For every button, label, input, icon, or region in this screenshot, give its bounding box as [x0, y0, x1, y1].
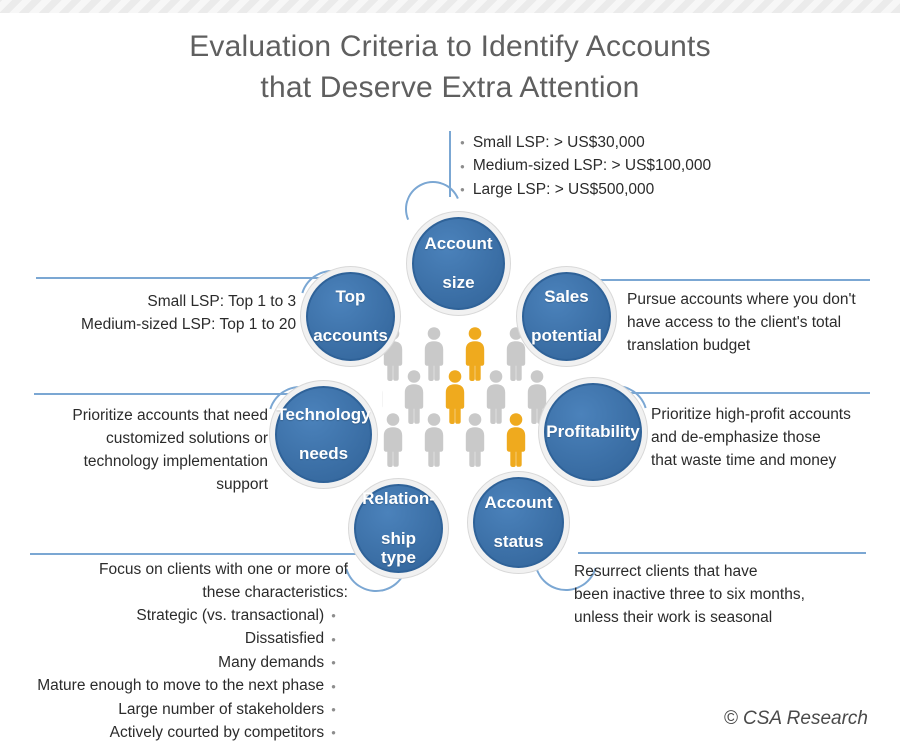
connector-technology-needs — [34, 393, 304, 395]
callout-account-size: Small LSP: > US$30,000 Medium-sized LSP:… — [460, 131, 711, 201]
node-label-line1: Account — [479, 493, 559, 513]
callout-line: technology implementation — [28, 450, 268, 473]
page-title: Evaluation Criteria to Identify Accounts… — [0, 26, 900, 108]
callout-line: been inactive three to six months, — [574, 583, 854, 606]
callout-line: that waste time and money — [651, 449, 900, 472]
infographic-slide: Evaluation Criteria to Identify Accounts… — [0, 0, 900, 744]
node-label-line1: Relation- — [356, 489, 441, 509]
callout-relationship-type-list: Strategic (vs. transactional) Dissatisfi… — [0, 604, 336, 744]
callout-line: Pursue accounts where you don't — [627, 288, 887, 311]
decorative-stripe-band — [0, 0, 900, 13]
list-item: Mature enough to move to the next phase — [0, 674, 336, 697]
list-item: Small LSP: Top 1 to 3 — [40, 290, 308, 313]
node-top-accounts-label: Top accounts — [301, 287, 400, 346]
node-label-line1: Sales — [525, 287, 608, 307]
person-gray — [425, 327, 443, 381]
title-line-2: that Deserve Extra Attention — [0, 67, 900, 108]
node-relationship-type[interactable]: Relation- ship type — [349, 479, 448, 578]
node-sales-potential[interactable]: Sales potential — [517, 267, 616, 366]
callout-line: and de-emphasize those — [651, 426, 900, 449]
person-gray — [425, 413, 443, 467]
list-item: Actively courted by competitors — [0, 721, 336, 744]
callout-profitability: Prioritize high-profit accounts and de-e… — [651, 403, 900, 472]
node-sales-potential-label: Sales potential — [519, 287, 614, 346]
node-label-line2: needs — [270, 444, 376, 464]
person-gray — [405, 370, 423, 424]
list-item: Many demands — [0, 651, 336, 674]
list-item: Dissatisfied — [0, 627, 336, 650]
node-label-line2: size — [419, 273, 499, 293]
list-item: Large number of stakeholders — [0, 698, 336, 721]
node-account-status[interactable]: Account status — [468, 472, 569, 573]
callout-line: customized solutions or — [28, 427, 268, 450]
node-technology-needs[interactable]: Technology needs — [270, 381, 377, 488]
person-gray — [384, 413, 402, 467]
list-item: Medium-sized LSP: Top 1 to 20 — [40, 313, 308, 336]
node-profitability[interactable]: Profitability — [539, 378, 647, 486]
callout-top-accounts: Small LSP: Top 1 to 3 Medium-sized LSP: … — [40, 290, 308, 337]
node-label-line2: accounts — [307, 326, 394, 346]
connector-sales-potential — [594, 279, 870, 281]
node-profitability-label: Profitability — [534, 422, 652, 442]
person-gold — [507, 413, 525, 467]
callout-relationship-type-heading: Focus on clients with one or more of the… — [0, 558, 348, 604]
node-account-status-label: Account status — [473, 493, 565, 552]
person-gray — [466, 413, 484, 467]
connector-relationship-type — [30, 553, 380, 555]
node-label-line1: Top — [307, 287, 394, 307]
callout-line: Focus on clients with one or more of — [0, 558, 348, 581]
callout-line: these characteristics: — [0, 581, 348, 604]
copyright-credit: © CSA Research — [724, 708, 868, 730]
callout-sales-potential: Pursue accounts where you don't have acc… — [627, 288, 887, 357]
node-top-accounts[interactable]: Top accounts — [301, 267, 400, 366]
callout-line: unless their work is seasonal — [574, 606, 854, 629]
connector-account-status — [578, 552, 866, 554]
callout-line: have access to the client's total — [627, 311, 887, 334]
callout-line: translation budget — [627, 334, 887, 357]
node-relationship-type-label: Relation- ship type — [350, 489, 447, 567]
list-item: Small LSP: > US$30,000 — [460, 131, 711, 154]
node-label-line1: Technology — [270, 405, 376, 425]
callout-line: support — [28, 473, 268, 496]
callout-technology-needs: Prioritize accounts that need customized… — [28, 404, 268, 496]
callout-line: Resurrect clients that have — [574, 560, 854, 583]
node-account-size[interactable]: Account size — [407, 212, 510, 315]
list-item: Medium-sized LSP: > US$100,000 — [460, 154, 711, 177]
node-account-size-label: Account size — [413, 234, 505, 293]
node-label-line1: Account — [419, 234, 499, 254]
connector-top-accounts — [36, 277, 336, 279]
person-gold — [446, 370, 464, 424]
callout-account-status: Resurrect clients that have been inactiv… — [574, 560, 854, 629]
callout-line: Prioritize high-profit accounts — [651, 403, 900, 426]
person-gold — [466, 327, 484, 381]
list-item: Large LSP: > US$500,000 — [460, 178, 711, 201]
list-item: Strategic (vs. transactional) — [0, 604, 336, 627]
callout-line: Prioritize accounts that need — [28, 404, 268, 427]
node-technology-needs-label: Technology needs — [264, 405, 382, 464]
node-label-line2: potential — [525, 326, 608, 346]
node-label-line1: Profitability — [540, 422, 646, 442]
title-line-1: Evaluation Criteria to Identify Accounts — [0, 26, 900, 67]
node-label-line2: status — [479, 532, 559, 552]
person-gray — [487, 370, 505, 424]
node-label-line2: ship type — [356, 529, 441, 568]
connector-profitability — [630, 392, 870, 394]
